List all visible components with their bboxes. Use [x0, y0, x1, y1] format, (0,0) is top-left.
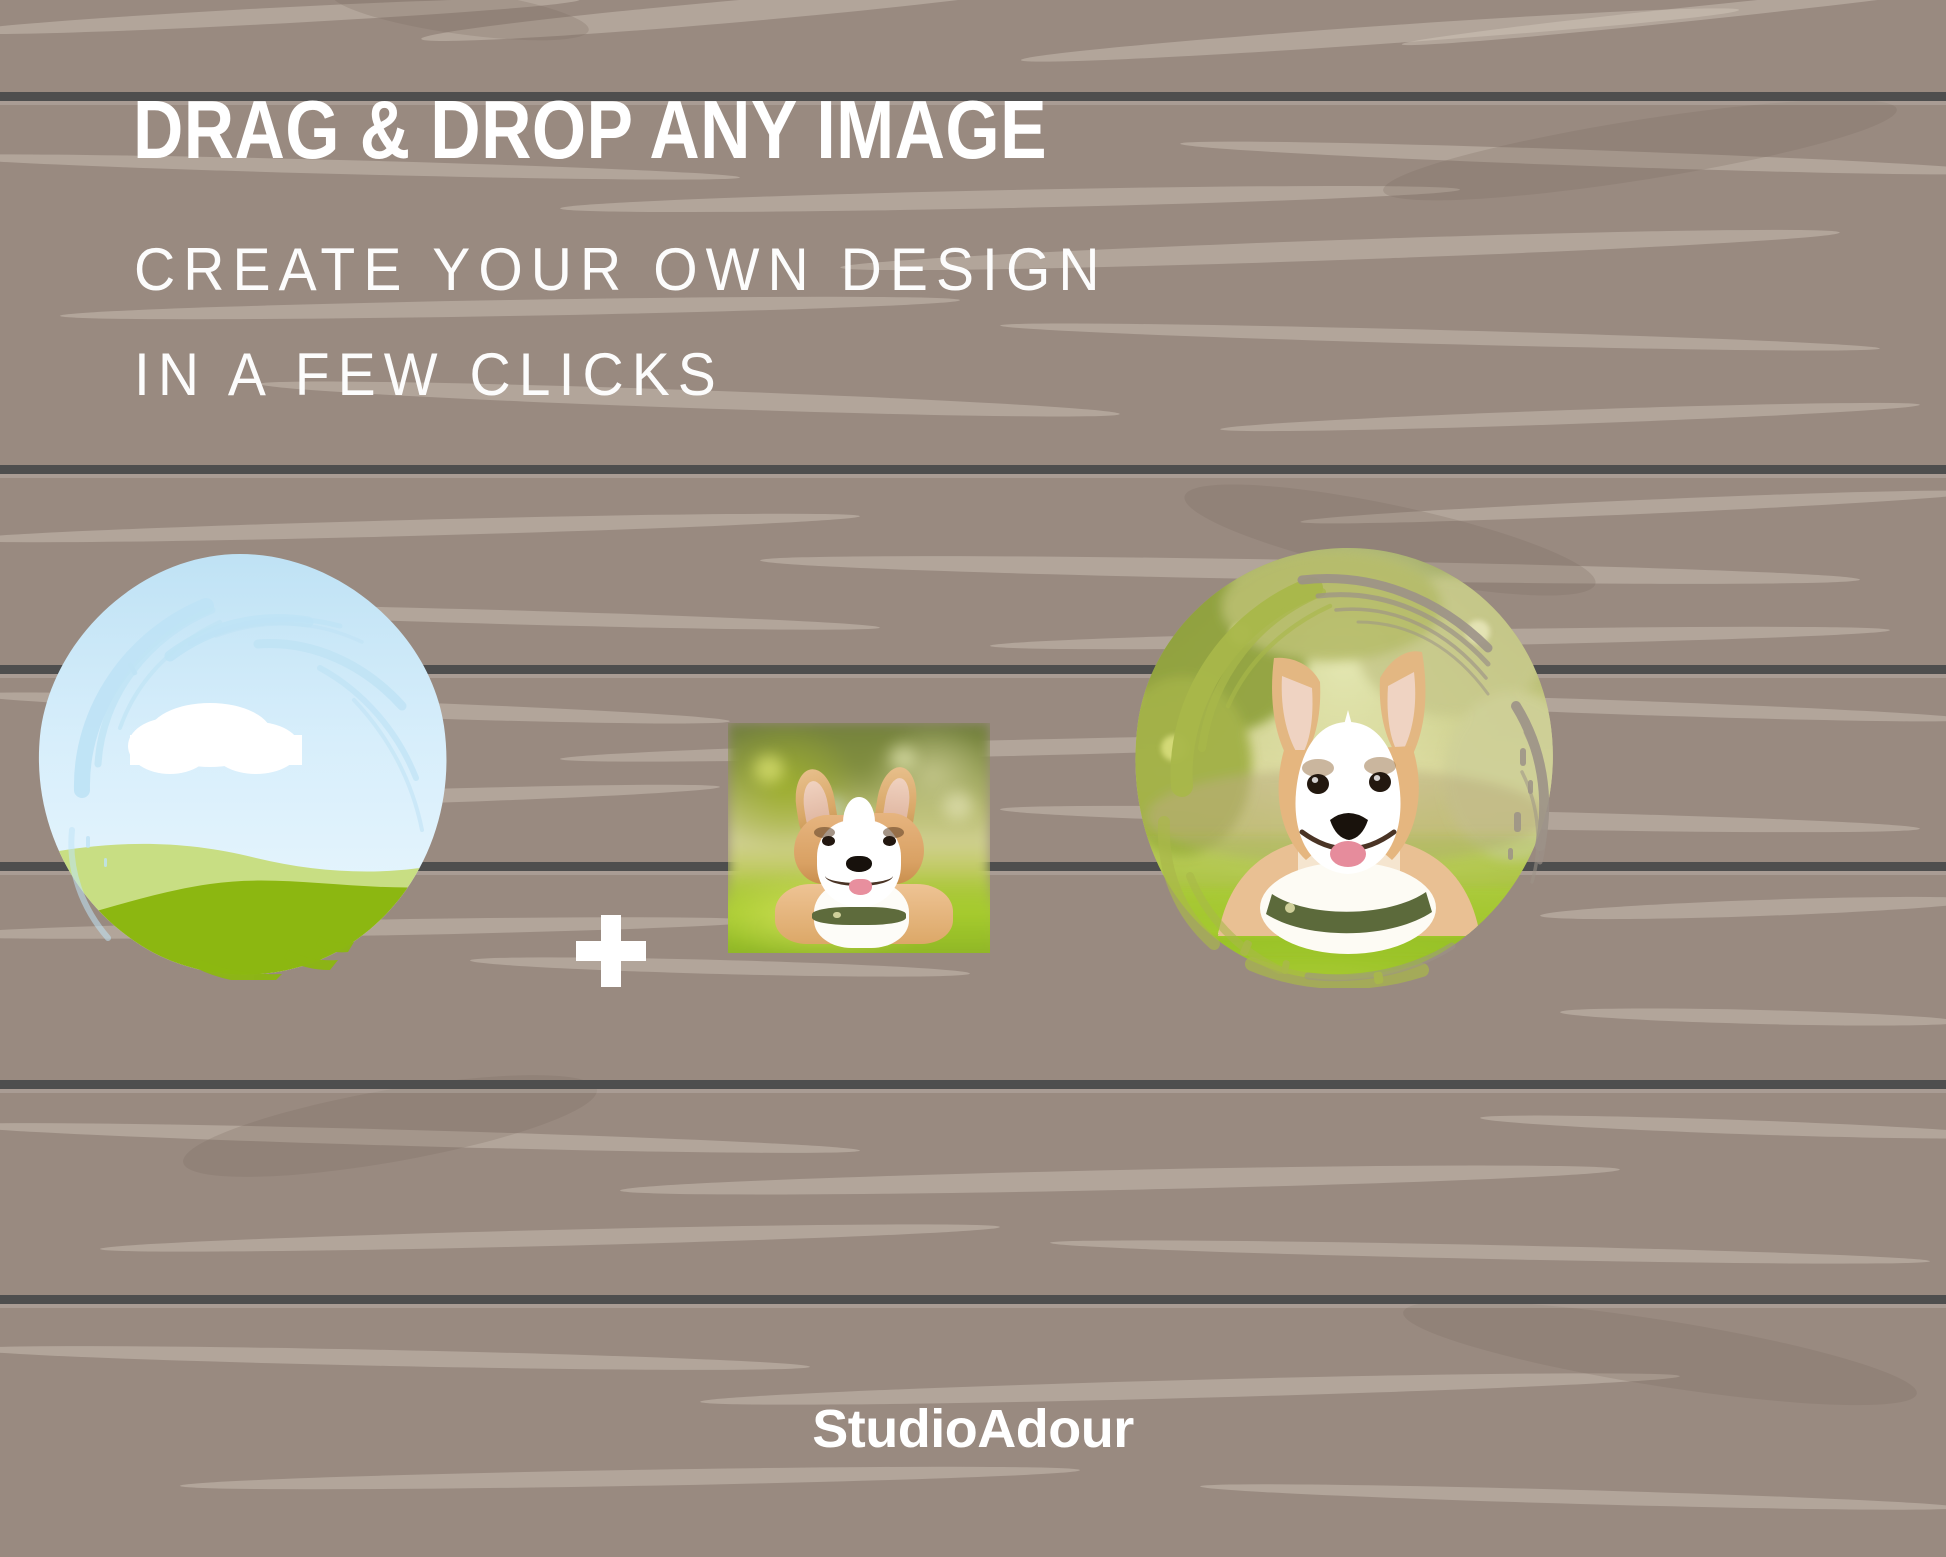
dog-collar	[812, 907, 906, 925]
corgi-photo[interactable]	[728, 723, 990, 953]
photo-scene	[728, 723, 990, 953]
brand-logo-text: StudioAdour	[0, 1398, 1946, 1460]
sky-and-hills-placeholder[interactable]	[20, 540, 460, 980]
dog-collar-ring	[833, 912, 841, 919]
dog-eye-right	[883, 836, 896, 846]
dog-figure	[728, 723, 990, 953]
plus-operator	[576, 915, 646, 987]
dog-blaze	[843, 797, 874, 848]
composition-row	[0, 0, 1946, 1557]
corgi-photo-in-brush-circle[interactable]	[1122, 536, 1566, 988]
plus-bar-vertical	[601, 915, 621, 987]
